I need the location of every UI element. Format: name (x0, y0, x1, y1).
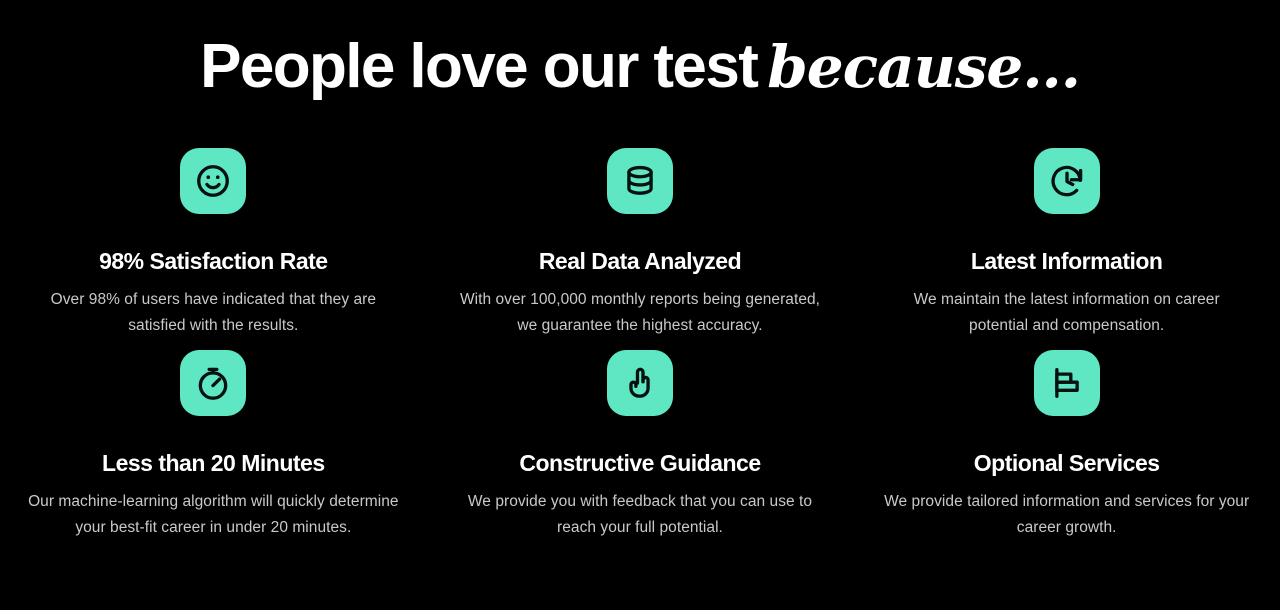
feature-card-optional-services: Optional Services We provide tailored in… (853, 350, 1280, 552)
feature-card-guidance: Constructive Guidance We provide you wit… (427, 350, 854, 552)
page-title-plain: People love our test (200, 32, 757, 101)
feature-description: Our machine-learning algorithm will quic… (24, 489, 403, 541)
feature-grid: 98% Satisfaction Rate Over 98% of users … (0, 148, 1280, 552)
feature-card-duration: Less than 20 Minutes Our machine-learnin… (0, 350, 427, 552)
feature-title: Real Data Analyzed (539, 247, 741, 275)
feature-title: Less than 20 Minutes (102, 449, 325, 477)
feature-description: Over 98% of users have indicated that th… (33, 287, 393, 339)
feature-card-real-data: Real Data Analyzed With over 100,000 mon… (427, 148, 854, 350)
page-title: People love our testbecause... (0, 28, 1280, 106)
features-section: People love our testbecause... 98% Satis… (0, 0, 1280, 610)
feature-title: Optional Services (974, 449, 1160, 477)
clock-rotate-icon (1034, 148, 1100, 214)
smiley-face-icon (180, 148, 246, 214)
feature-description: With over 100,000 monthly reports being … (451, 287, 830, 339)
feature-card-latest-info: Latest Information We maintain the lates… (853, 148, 1280, 350)
feature-title: 98% Satisfaction Rate (99, 247, 328, 275)
database-stack-icon (607, 148, 673, 214)
feature-description: We maintain the latest information on ca… (887, 287, 1247, 339)
page-title-emphasis: because... (757, 33, 1080, 101)
feature-description: We provide you with feedback that you ca… (460, 489, 820, 541)
feature-description: We provide tailored information and serv… (877, 489, 1256, 541)
feature-title: Latest Information (971, 247, 1163, 275)
feature-card-satisfaction: 98% Satisfaction Rate Over 98% of users … (0, 148, 427, 350)
pointing-hand-icon (607, 350, 673, 416)
feature-title: Constructive Guidance (519, 449, 760, 477)
bar-chart-icon (1034, 350, 1100, 416)
stopwatch-icon (180, 350, 246, 416)
